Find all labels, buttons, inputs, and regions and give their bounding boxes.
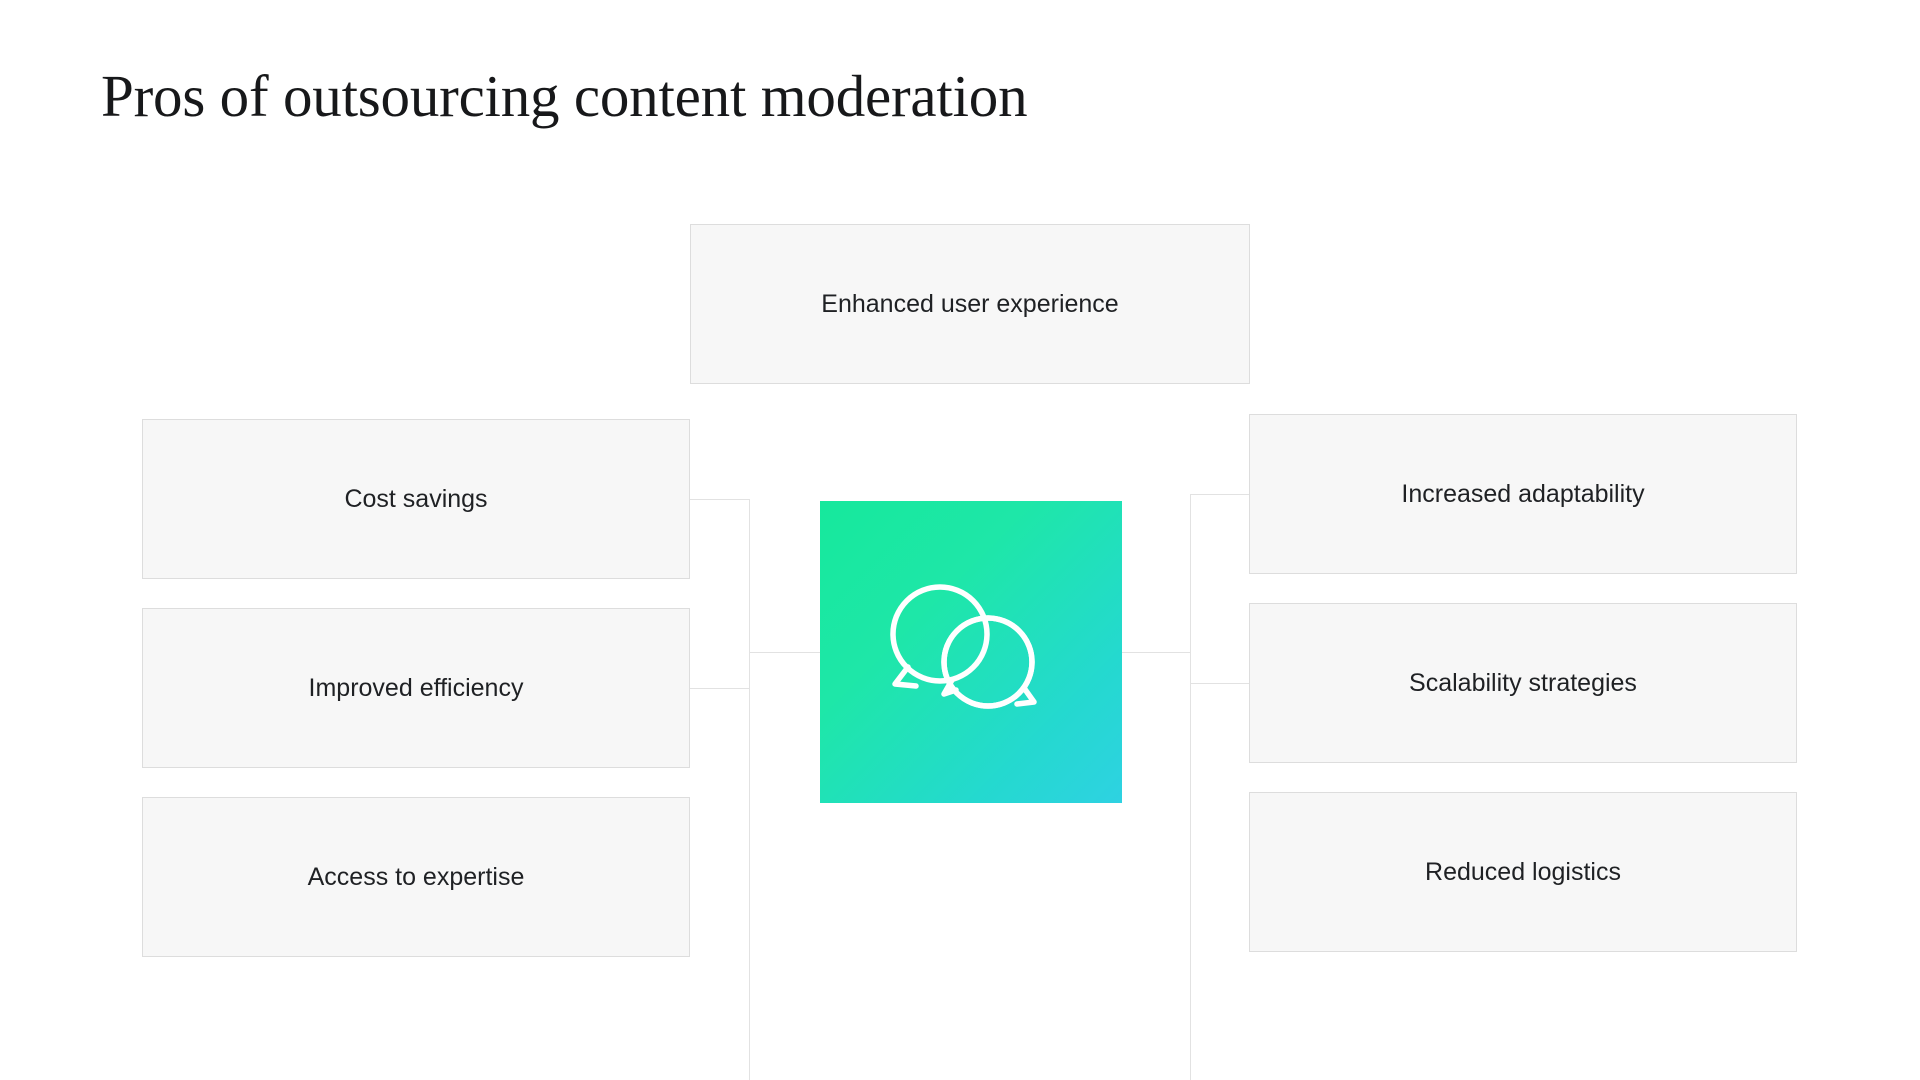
connector-left-trunk xyxy=(749,499,750,1080)
two-speech-bubbles-icon xyxy=(876,572,1066,732)
node-left-improved-efficiency[interactable]: Improved efficiency xyxy=(142,608,690,768)
connector-left-branch-1 xyxy=(690,688,750,689)
node-label: Access to expertise xyxy=(294,861,539,894)
center-hub-tile xyxy=(820,501,1122,803)
node-right-reduced-logistics[interactable]: Reduced logistics xyxy=(1249,792,1797,952)
node-left-access-to-expertise[interactable]: Access to expertise xyxy=(142,797,690,957)
node-label: Enhanced user experience xyxy=(807,288,1132,321)
connector-left-branch-0 xyxy=(690,499,750,500)
connector-left-stub xyxy=(749,652,820,653)
node-top-enhanced-user-experience[interactable]: Enhanced user experience xyxy=(690,224,1250,384)
node-label: Reduced logistics xyxy=(1411,856,1635,889)
node-label: Cost savings xyxy=(330,483,501,516)
node-right-scalability-strategies[interactable]: Scalability strategies xyxy=(1249,603,1797,763)
node-label: Increased adaptability xyxy=(1387,478,1658,511)
node-label: Scalability strategies xyxy=(1395,667,1651,700)
connector-right-branch-0 xyxy=(1190,494,1250,495)
connector-right-trunk xyxy=(1190,494,1191,1080)
node-label: Improved efficiency xyxy=(295,672,538,705)
connector-right-stub xyxy=(1122,652,1191,653)
node-right-increased-adaptability[interactable]: Increased adaptability xyxy=(1249,414,1797,574)
connector-right-branch-1 xyxy=(1190,683,1250,684)
mindmap-diagram: Enhanced user experience Cost savings Im… xyxy=(0,0,1920,1080)
node-left-cost-savings[interactable]: Cost savings xyxy=(142,419,690,579)
